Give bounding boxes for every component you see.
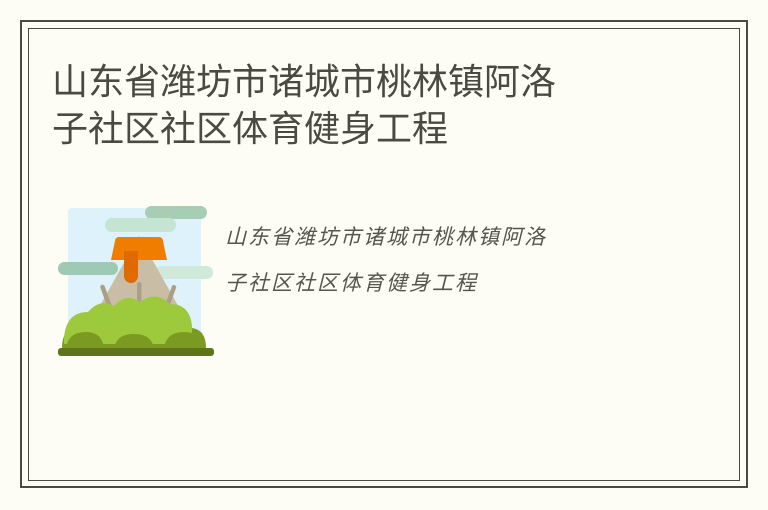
- caption-text: 山东省潍坊市诸城市桃林镇阿洛 子社区社区体育健身工程: [225, 214, 685, 306]
- page-title: 山东省潍坊市诸城市桃林镇阿洛 子社区社区体育健身工程: [52, 58, 652, 152]
- content-row: 山东省潍坊市诸城市桃林镇阿洛 子社区社区体育健身工程: [52, 196, 712, 376]
- volcano-icon: [52, 196, 227, 366]
- volcano-illustration: [52, 196, 227, 366]
- poster-page: 山东省潍坊市诸城市桃林镇阿洛 子社区社区体育健身工程: [0, 0, 768, 510]
